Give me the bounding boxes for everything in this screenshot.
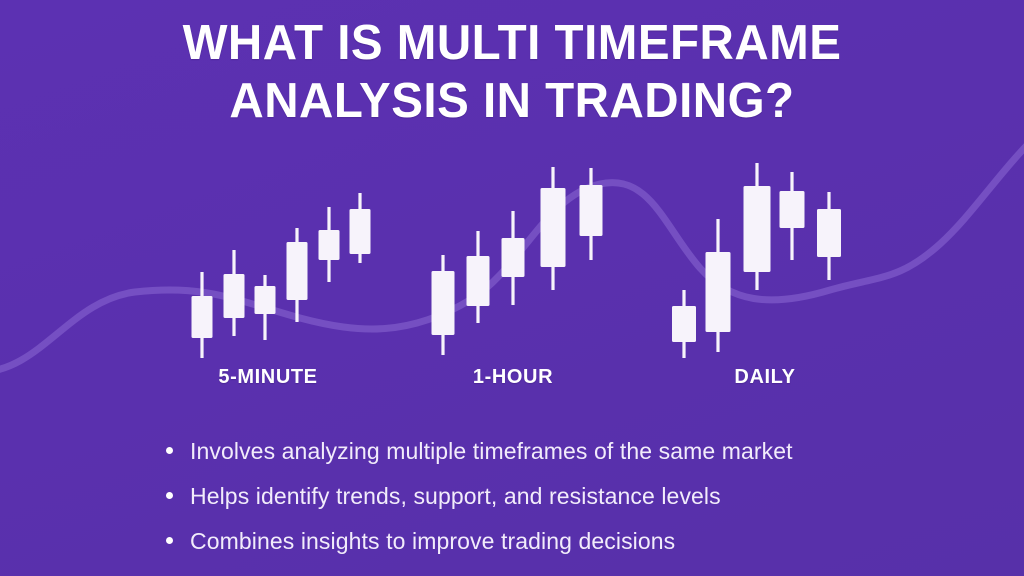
- list-item: Involves analyzing multiple timeframes o…: [166, 436, 966, 467]
- candle-body: [432, 271, 455, 335]
- candle-group-daily: [672, 163, 841, 358]
- bullet-text: Helps identify trends, support, and resi…: [190, 481, 721, 512]
- candle-body: [780, 191, 805, 228]
- candle-body: [319, 230, 340, 260]
- candle-body: [255, 286, 276, 314]
- candle-body: [744, 186, 771, 272]
- candlestick-svg: [0, 140, 1024, 400]
- title-line-2: ANALYSIS IN TRADING?: [15, 72, 1008, 130]
- candle-body: [541, 188, 566, 267]
- slide-canvas: WHAT IS MULTI TIMEFRAME ANALYSIS IN TRAD…: [0, 0, 1024, 576]
- timeframe-labels: 5-MINUTE1-HOURDAILY: [0, 366, 1024, 396]
- candle-body: [706, 252, 731, 332]
- candle-body: [287, 242, 308, 300]
- list-item: Combines insights to improve trading dec…: [166, 526, 966, 557]
- candlestick-chart: [0, 140, 1024, 400]
- title-line-1: WHAT IS MULTI TIMEFRAME: [15, 14, 1008, 72]
- candle-body: [350, 209, 371, 254]
- bullet-dot-icon: [166, 537, 173, 544]
- list-item: Helps identify trends, support, and resi…: [166, 481, 966, 512]
- bullet-dot-icon: [166, 492, 173, 499]
- candle-body: [192, 296, 213, 338]
- bullet-text: Involves analyzing multiple timeframes o…: [190, 436, 793, 467]
- candle-body: [672, 306, 696, 342]
- candle-body: [817, 209, 841, 257]
- candle-body: [224, 274, 245, 318]
- candle-body: [467, 256, 490, 306]
- candle-body: [502, 238, 525, 277]
- candle-body: [580, 185, 603, 236]
- timeframe-label-1-hour: 1-HOUR: [473, 366, 553, 389]
- key-points-list: Involves analyzing multiple timeframes o…: [166, 436, 966, 571]
- bullet-dot-icon: [166, 447, 173, 454]
- page-title: WHAT IS MULTI TIMEFRAME ANALYSIS IN TRAD…: [0, 14, 1024, 130]
- candle-group-1-hour: [432, 167, 603, 355]
- timeframe-label-5-minute: 5-MINUTE: [218, 366, 317, 389]
- timeframe-label-daily: DAILY: [734, 366, 795, 389]
- bullet-text: Combines insights to improve trading dec…: [190, 526, 675, 557]
- candle-group-5-minute: [192, 193, 371, 358]
